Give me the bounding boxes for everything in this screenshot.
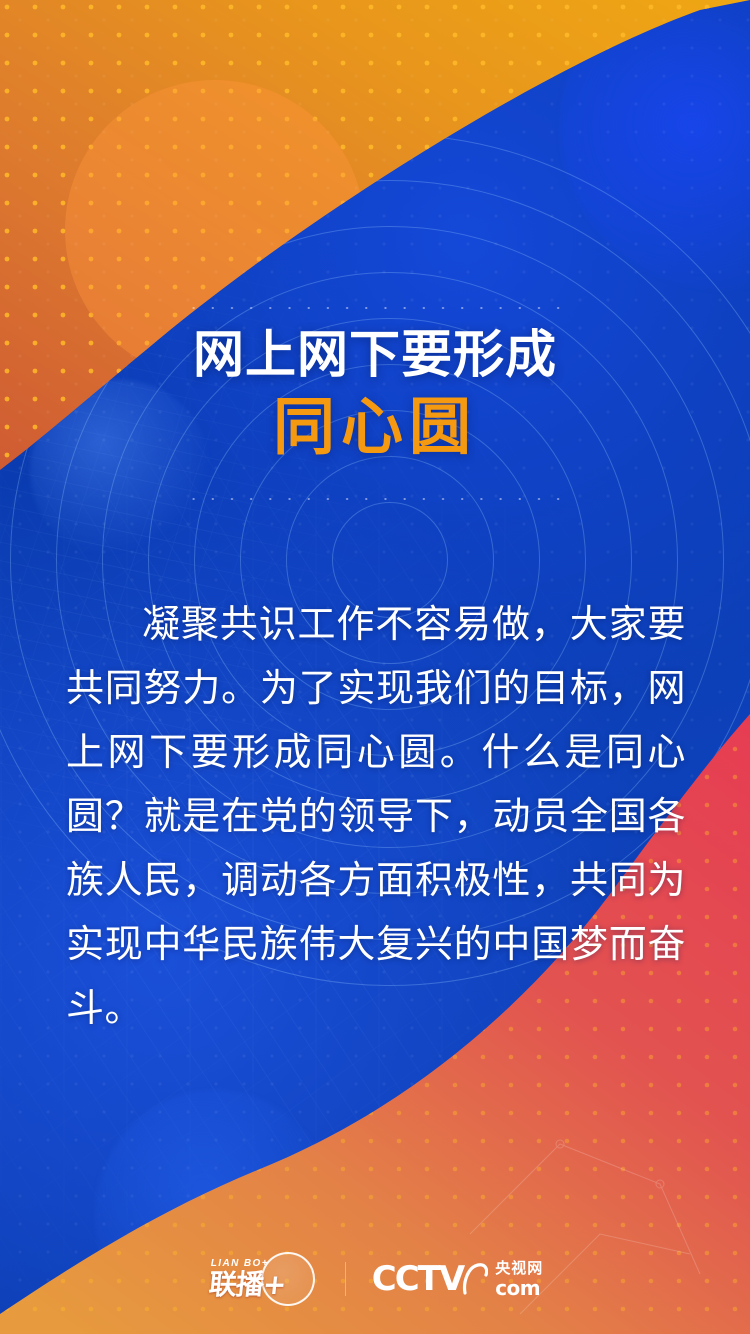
quote-body-text: 凝聚共识工作不容易做，大家要共同努力。为了实现我们的目标，网上网下要形成同心圆。… [66, 592, 686, 1040]
cctv-swoosh-icon [462, 1262, 488, 1296]
cctv-logo[interactable]: CCTV 央视网 com [372, 1261, 543, 1298]
dotted-divider-bottom [184, 497, 566, 501]
lianbo-logo-text: LIAN BO+ 联播+ [207, 1259, 285, 1299]
footer-divider [345, 1262, 346, 1296]
dotted-divider-top [184, 306, 566, 310]
cctv-com-label: com [495, 1278, 540, 1298]
cctv-text-block: 央视网 com [495, 1261, 543, 1298]
cctv-chinese-label: 央视网 [495, 1261, 543, 1276]
headline-line-2: 同心圆 [0, 390, 750, 463]
lianbo-main-label: 联播+ [207, 1271, 286, 1299]
footer-logo-bar: LIAN BO+ 联播+ CCTV 央视网 com [0, 1250, 750, 1308]
headline-line-1: 网上网下要形成 [0, 326, 750, 386]
cctv-mark-label: CCTV [372, 1262, 463, 1296]
headline-block: 网上网下要形成 同心圆 [0, 326, 750, 463]
quote-paragraph: 凝聚共识工作不容易做，大家要共同努力。为了实现我们的目标，网上网下要形成同心圆。… [66, 592, 686, 1040]
poster-root: 网上网下要形成 同心圆 凝聚共识工作不容易做，大家要共同努力。为了实现我们的目标… [0, 0, 750, 1334]
lianbo-logo[interactable]: LIAN BO+ 联播+ [207, 1250, 319, 1308]
